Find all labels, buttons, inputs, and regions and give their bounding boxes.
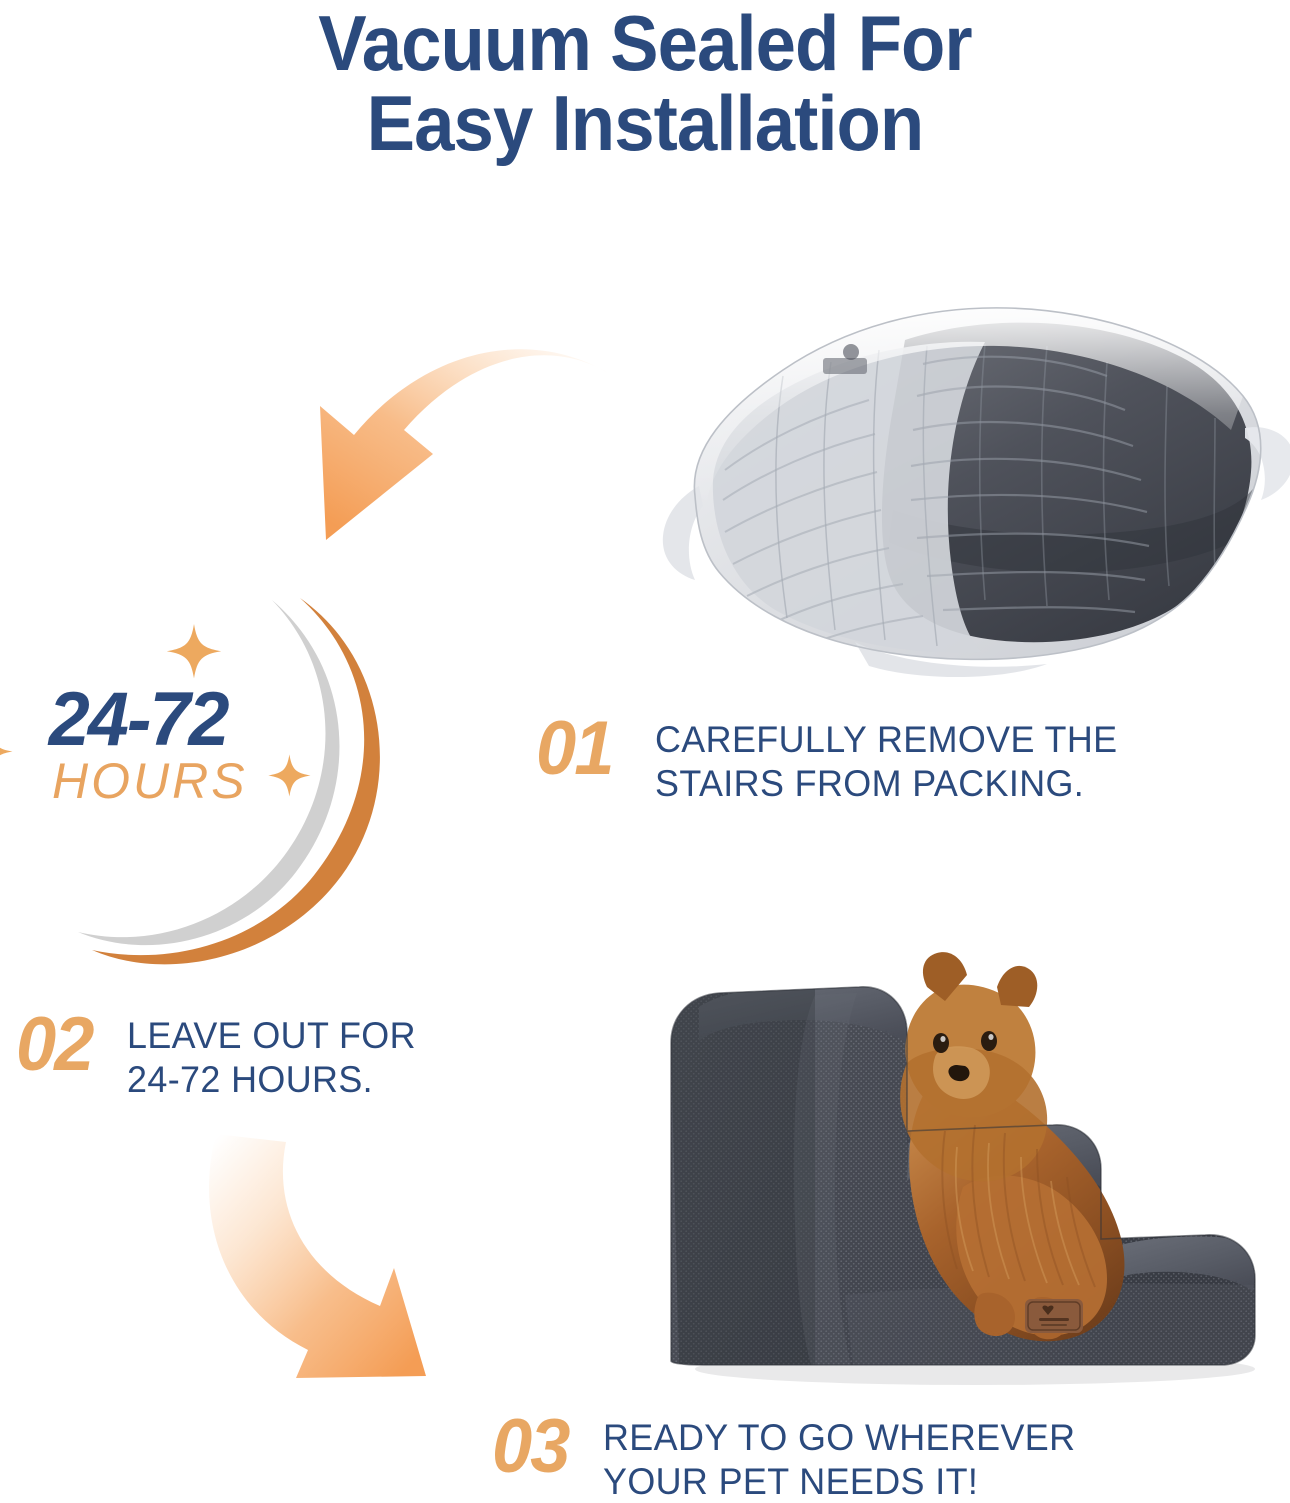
step-number-02: 02 [16, 1008, 93, 1082]
step-number-01: 01 [536, 712, 613, 786]
step-item-02: 02 LEAVE OUT FOR 24-72 HOURS. [16, 1008, 424, 1101]
brand-logo-tag [1025, 1299, 1083, 1333]
badge-duration-unit: HOURS [52, 752, 248, 810]
arrow-step-03-icon [176, 1128, 526, 1393]
duration-badge: 24-72 HOURS [0, 590, 450, 980]
badge-duration-value: 24-72 [49, 676, 228, 763]
page-title: Vacuum Sealed For Easy Installation [45, 4, 1245, 163]
arrow-step-01-icon [296, 318, 616, 583]
step-text-03: READY TO GO WHEREVER YOUR PET NEEDS IT! [603, 1416, 1075, 1503]
step-text-01: CAREFULLY REMOVE THE STAIRS FROM PACKING… [655, 718, 1117, 805]
product-photo-vacuum-pack [655, 300, 1290, 700]
step-number-03: 03 [492, 1410, 569, 1484]
step-item-03: 03 READY TO GO WHEREVER YOUR PET NEEDS I… [492, 1410, 1090, 1503]
step-text-02: LEAVE OUT FOR 24-72 HOURS. [127, 1014, 416, 1101]
product-photo-stairs-with-dog [645, 895, 1285, 1385]
step-item-01: 01 CAREFULLY REMOVE THE STAIRS FROM PACK… [536, 712, 1131, 805]
